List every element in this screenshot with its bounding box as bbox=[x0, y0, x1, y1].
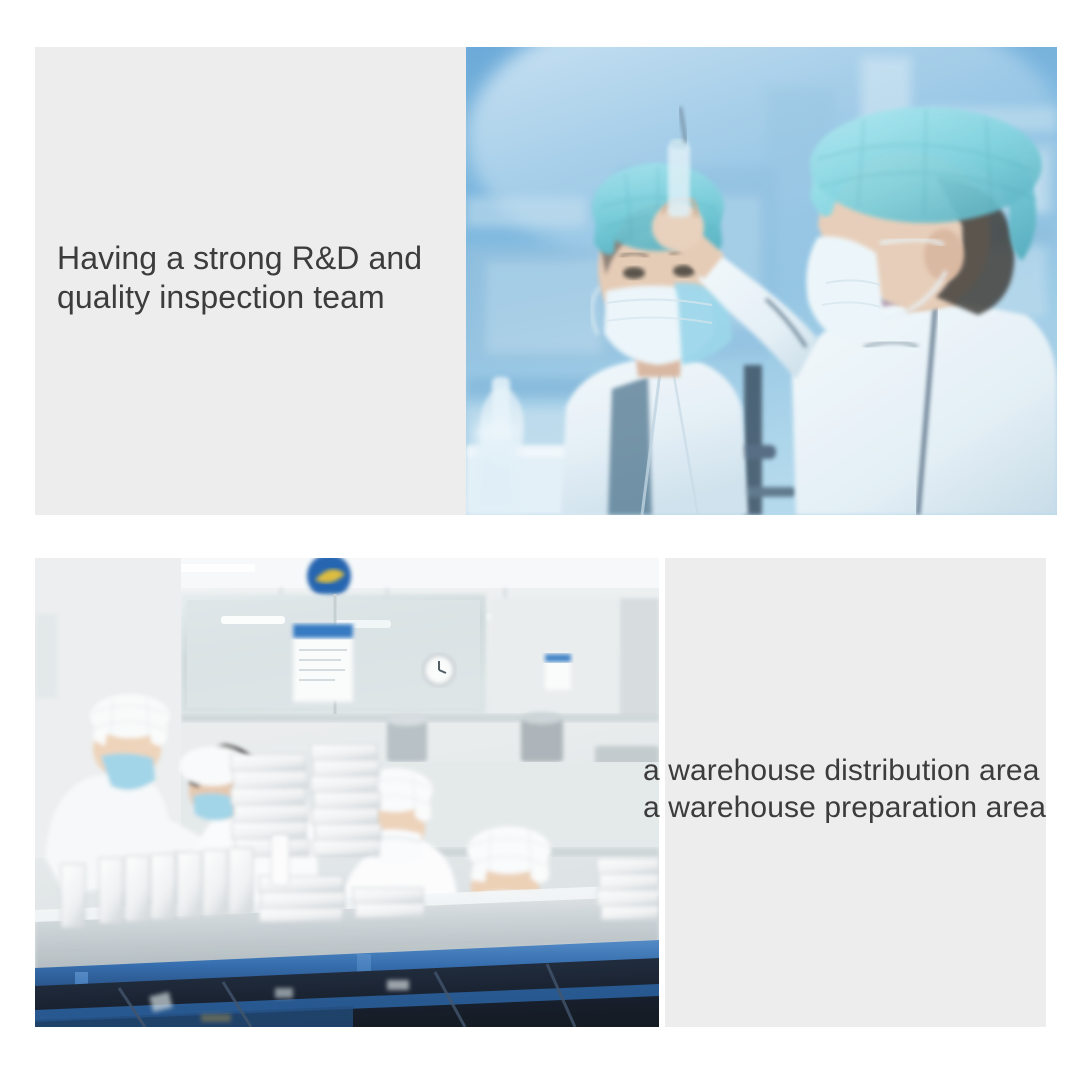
warehouse-photo-illustration bbox=[35, 558, 659, 1027]
caption-text-rd-quality: Having a strong R&D and quality inspecti… bbox=[57, 239, 457, 317]
caption-text-warehouse-areas: a warehouse distribution area a warehous… bbox=[643, 753, 1063, 827]
photo-warehouse-packing-area bbox=[35, 558, 659, 1027]
section-rd-quality-inspection: Having a strong R&D and quality inspecti… bbox=[0, 0, 1080, 516]
section-warehouse-areas: a warehouse distribution area a warehous… bbox=[0, 558, 1080, 1028]
photo-laboratory-quality-inspection bbox=[466, 47, 1057, 515]
banner-page: Having a strong R&D and quality inspecti… bbox=[0, 0, 1080, 1080]
laboratory-photo-illustration bbox=[466, 47, 1057, 515]
